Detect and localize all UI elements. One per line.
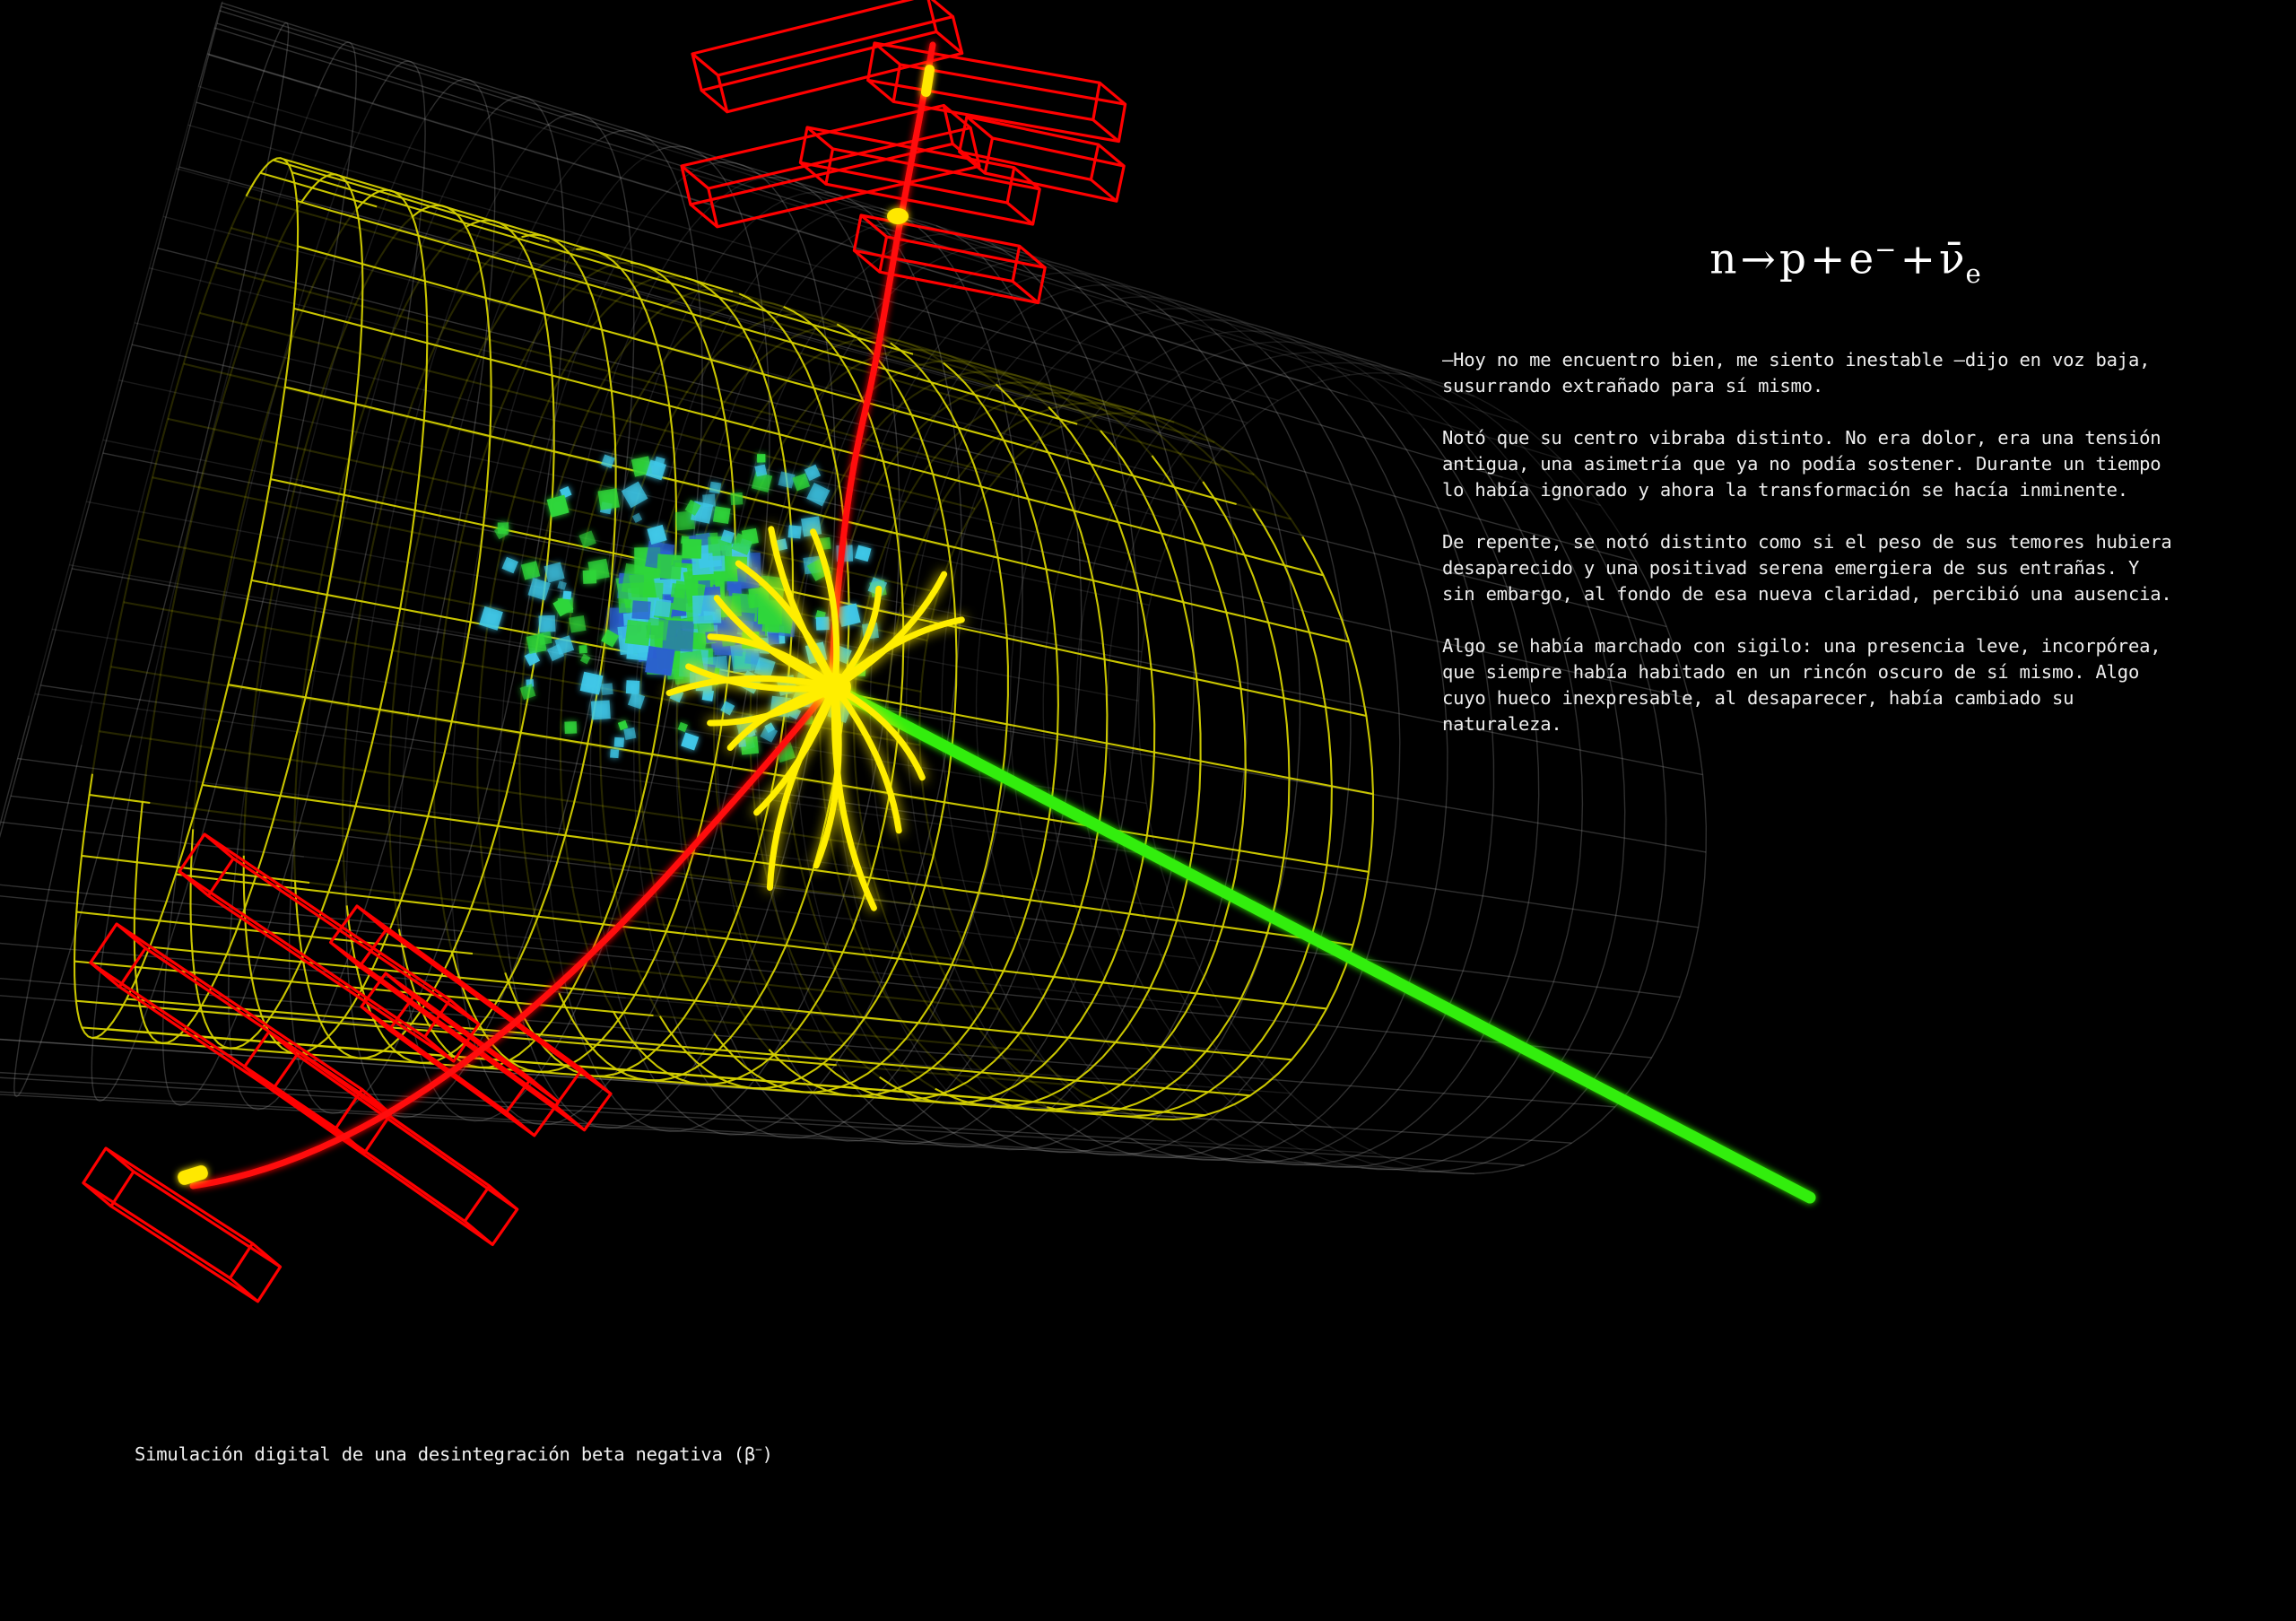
calorimeter-hit <box>569 615 586 632</box>
calorimeter-hit <box>730 492 743 505</box>
calorimeter-hit <box>623 728 636 740</box>
calorimeter-hit <box>564 721 577 734</box>
calorimeter-hit <box>645 646 675 676</box>
caption-superscript: − <box>755 1442 761 1456</box>
caption-text: Simulación digital de una desintegración… <box>135 1443 755 1465</box>
calorimeter-hit <box>713 506 731 524</box>
calorimeter-hit <box>583 570 597 584</box>
calorimeter-hit <box>787 525 801 538</box>
decay-equation: n→p+e−+ν̄e <box>1442 235 2249 288</box>
equation-neutron: n <box>1709 235 1737 284</box>
calorimeter-hit <box>626 680 640 694</box>
paragraph-3: De repente, se notó distinto como si el … <box>1442 529 2249 607</box>
equation-plus-2: + <box>1898 235 1939 284</box>
calorimeter-hit <box>562 591 571 600</box>
calorimeter-hit <box>702 689 714 701</box>
equation-proton: p <box>1779 235 1807 284</box>
interaction-vertex <box>819 673 851 702</box>
calorimeter-hit <box>768 633 779 645</box>
calorimeter-hit <box>709 482 722 494</box>
calorimeter-hit <box>709 555 726 571</box>
paragraph-4: Algo se había marchado con sigilo: una p… <box>1442 633 2249 737</box>
calorimeter-hit <box>622 563 655 597</box>
calorimeter-hit <box>578 645 587 653</box>
caption-tail: ) <box>762 1443 773 1465</box>
calorimeter-hit <box>526 633 547 654</box>
calorimeter-hit <box>597 488 619 510</box>
calorimeter-hit <box>625 620 651 646</box>
calorimeter-hit <box>816 617 830 631</box>
paragraph-1: —Hoy no me encuentro bien, me siento ine… <box>1442 347 2249 399</box>
calorimeter-hit <box>681 536 690 545</box>
equation-antineutrino: ν̄ <box>1939 235 1966 284</box>
calorimeter-hit <box>657 553 683 580</box>
calorimeter-hit <box>591 700 611 719</box>
calorimeter-hit <box>539 615 556 632</box>
paragraph-2: Notó que su centro vibraba distinto. No … <box>1442 425 2249 503</box>
equation-electron: e <box>1848 235 1874 284</box>
calorimeter-hit <box>614 737 624 747</box>
calorimeter-hit <box>754 465 767 477</box>
equation-antineutrino-subscript: e <box>1966 258 1982 289</box>
calorimeter-hit <box>580 672 604 695</box>
equation-plus-1: + <box>1807 235 1848 284</box>
calorimeter-hit <box>601 683 613 695</box>
calorimeter-hit <box>631 600 650 619</box>
calorimeter-hit <box>610 749 619 758</box>
equation-electron-charge: − <box>1874 234 1897 265</box>
muon-hit-marker <box>887 208 909 224</box>
scene-canvas: n→p+e−+ν̄e —Hoy no me encuentro bien, me… <box>0 0 2296 1621</box>
equation-arrow: → <box>1737 235 1779 284</box>
text-column: n→p+e−+ν̄e —Hoy no me encuentro bien, me… <box>1442 235 2249 737</box>
calorimeter-hit <box>757 454 765 462</box>
figure-caption: Simulación digital de una desintegración… <box>135 1442 773 1465</box>
calorimeter-hit <box>652 598 671 617</box>
